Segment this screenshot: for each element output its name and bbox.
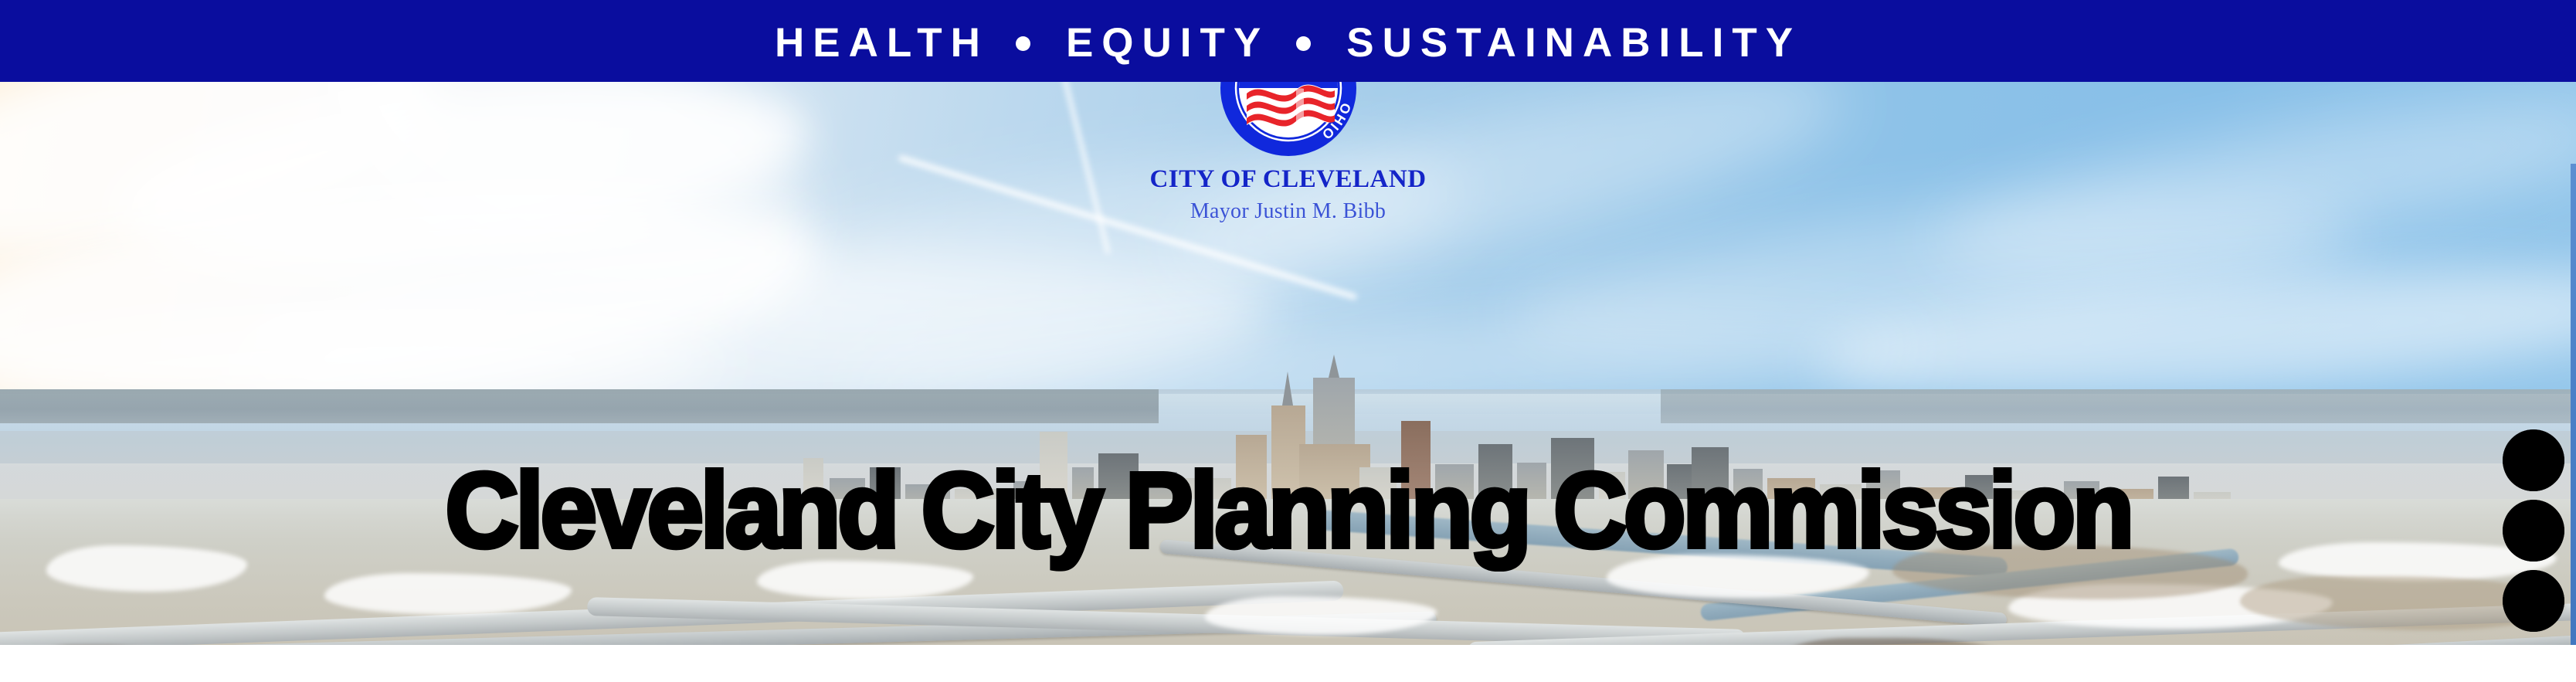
tagline-separator-dot-1 [1016, 36, 1030, 51]
tagline-word-sustainability: SUSTAINABILITY [1346, 22, 1801, 63]
social-link-instagram[interactable] [2503, 500, 2564, 562]
distant-treeline [0, 389, 1159, 423]
social-links-rail [2503, 429, 2564, 632]
social-link-facebook[interactable] [2503, 570, 2564, 632]
key-tower-spire [1329, 355, 1339, 378]
social-link-youtube[interactable] [2503, 429, 2564, 491]
instagram-icon [2503, 500, 2564, 562]
facebook-icon [2503, 570, 2564, 632]
tagline-bar: HEALTH EQUITY SUSTAINABILITY [0, 0, 2576, 82]
city-name-label: CITY OF CLEVELAND [1149, 165, 1426, 194]
tagline-inner: HEALTH EQUITY SUSTAINABILITY [775, 22, 1801, 63]
right-edge-sliver [2571, 164, 2576, 645]
tagline-word-equity: EQUITY [1066, 22, 1269, 63]
mayor-name-label: Mayor Justin M. Bibb [1190, 199, 1386, 224]
page-title-text: Cleveland City Planning Commission [445, 457, 2131, 564]
terminal-tower-spire [1282, 372, 1293, 405]
page-root: HEALTH EQUITY SUSTAINABILITY [0, 0, 2576, 682]
tagline-word-health: HEALTH [775, 22, 989, 63]
tagline-separator-dot-2 [1296, 36, 1311, 51]
youtube-icon [2503, 429, 2564, 491]
